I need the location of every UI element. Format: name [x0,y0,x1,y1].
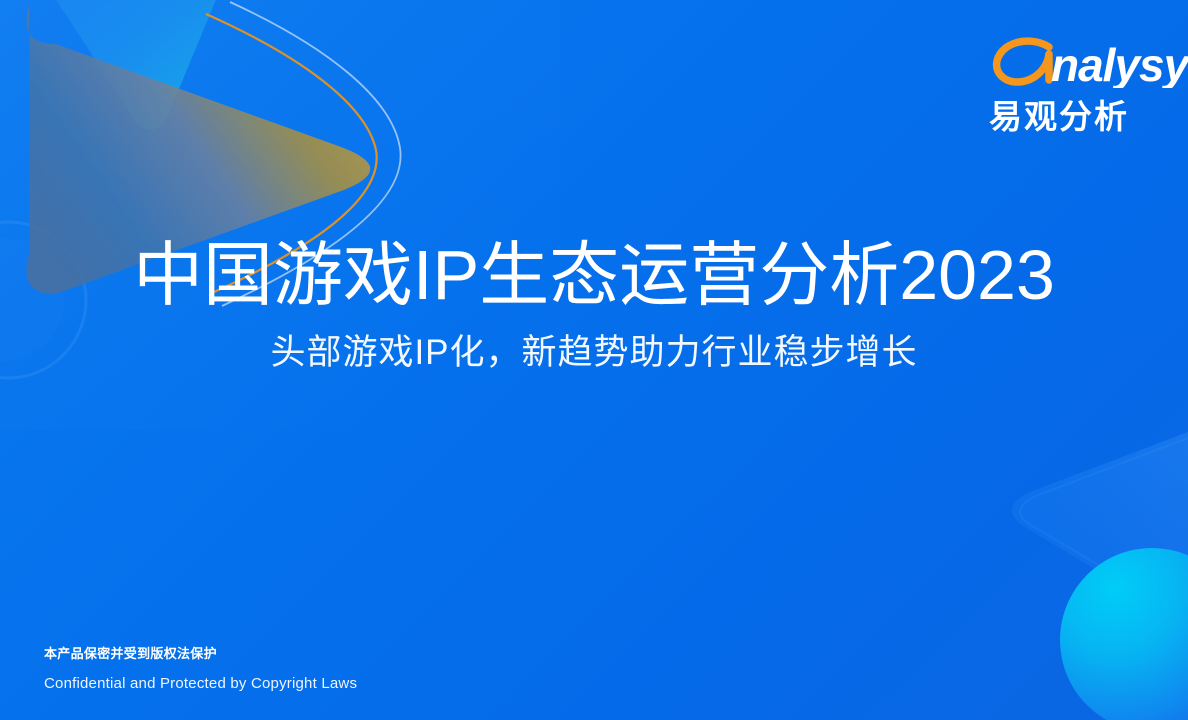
brand-logo: nalysys 易观分析 [989,36,1188,138]
analysys-wordmark-icon: nalysys [989,36,1188,88]
soft-triangle-bottom-right [1012,432,1188,626]
title-slide: nalysys 易观分析 中国游戏IP生态运营分析2023 头部游戏IP化，新趋… [0,0,1188,720]
copyright-notice-english: Confidential and Protected by Copyright … [44,675,357,692]
copyright-notice-chinese: 本产品保密并受到版权法保护 [44,643,357,662]
page-title: 中国游戏IP生态运营分析2023 [0,236,1188,314]
brand-logo-chinese: 易观分析 [989,90,1188,138]
title-block: 中国游戏IP生态运营分析2023 头部游戏IP化，新趋势助力行业稳步增长 [0,236,1188,374]
light-triangle-top-left [30,0,243,134]
copyright-footer: 本产品保密并受到版权法保护 Confidential and Protected… [44,643,357,692]
cyan-circle-bottom-right [1060,548,1188,720]
svg-text:nalysys: nalysys [1051,39,1188,88]
soft-triangle-bottom-right-edge [1020,438,1188,618]
page-subtitle: 头部游戏IP化，新趋势助力行业稳步增长 [0,332,1188,374]
